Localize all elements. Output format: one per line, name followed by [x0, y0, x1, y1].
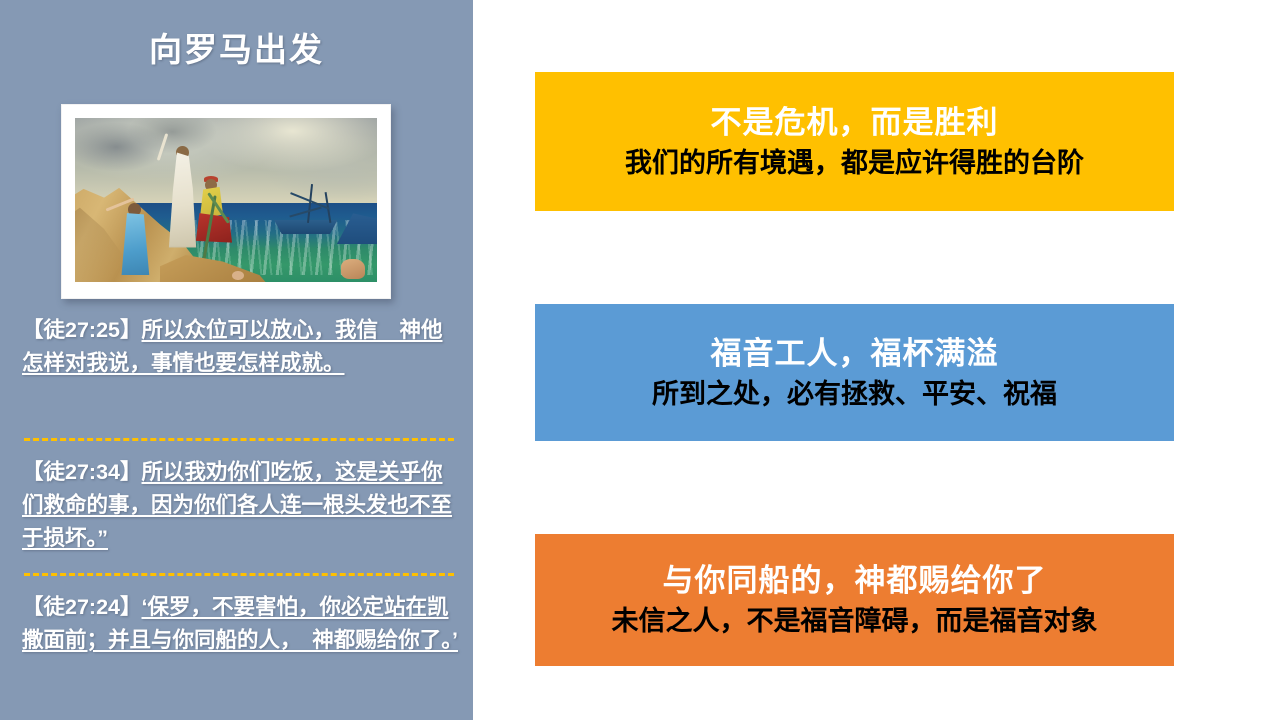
callout-box-gospel: 福音工人，福杯满溢 所到之处，必有拯救、平安、祝福 — [535, 304, 1174, 441]
painting-storm-cloud — [75, 118, 262, 187]
callout-subtext: 我们的所有境遇，都是应许得胜的台阶 — [625, 144, 1084, 182]
callout-heading: 不是危机，而是胜利 — [711, 102, 999, 144]
callout-subtext: 所到之处，必有拯救、平安、祝福 — [652, 375, 1057, 413]
painting-swimmer-far — [341, 259, 365, 279]
sidebar-panel: 向罗马出发 — [0, 0, 473, 720]
painting-ship-hull — [271, 220, 337, 235]
dashed-divider — [24, 573, 454, 576]
paul-shipwreck-painting — [75, 118, 377, 282]
scripture-verse: 【徒27:25】所以众位可以放心，我信 神他怎样对我说，事情也要怎样成就。 — [22, 314, 460, 380]
verse-reference: 【徒27:34】 — [22, 460, 142, 484]
callout-heading: 福音工人，福杯满溢 — [711, 333, 999, 375]
callout-subtext: 未信之人，不是福音障碍，而是福音对象 — [612, 602, 1098, 640]
callout-heading: 与你同船的，神都赐给你了 — [663, 560, 1047, 602]
dashed-divider — [24, 438, 454, 441]
presentation-slide: 向罗马出发 — [0, 0, 1280, 720]
callout-box-victory: 不是危机，而是胜利 我们的所有境遇，都是应许得胜的台阶 — [535, 72, 1174, 211]
callout-box-companions: 与你同船的，神都赐给你了 未信之人，不是福音障碍，而是福音对象 — [535, 534, 1174, 666]
scripture-verse: 【徒27:34】所以我劝你们吃饭，这是关乎你们救命的事，因为你们各人连一根头发也… — [22, 456, 460, 555]
scripture-verse: 【徒27:24】‘保罗，不要害怕，你必定站在凯撒面前；并且与你同船的人， 神都赐… — [22, 591, 460, 657]
page-title: 向罗马出发 — [0, 29, 473, 71]
picture-frame — [61, 104, 391, 299]
verse-reference: 【徒27:25】 — [22, 318, 142, 342]
verse-reference: 【徒27:24】 — [22, 595, 142, 619]
